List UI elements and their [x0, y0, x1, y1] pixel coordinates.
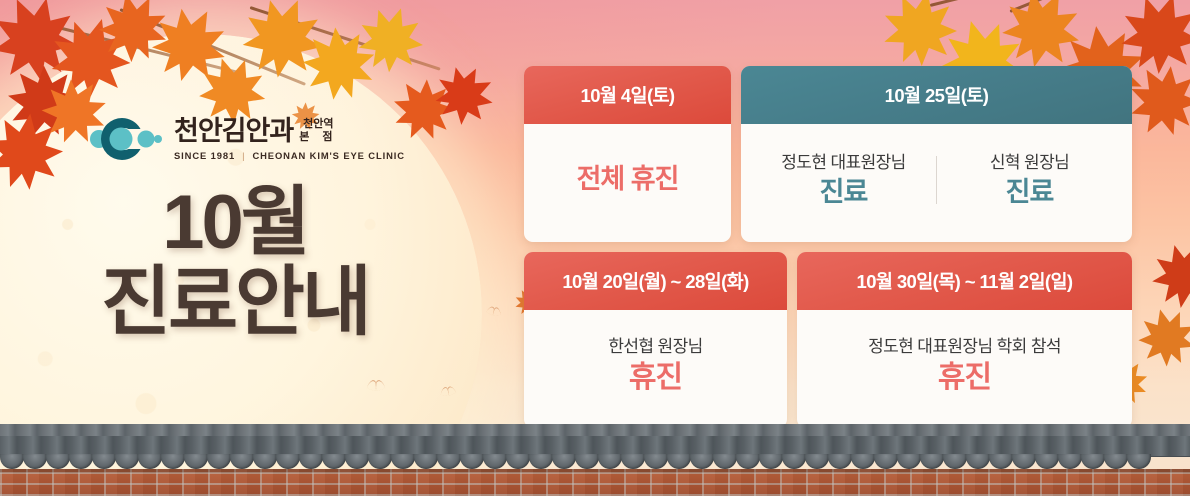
schedule-card-grid: 10월 4일(토) 전체 휴진 10월 25일(토) 정도현 대표원장님 진료 [524, 66, 1132, 428]
doctor-name: 정도현 대표원장님 [781, 152, 905, 174]
maple-branch [1009, 0, 1177, 13]
schedule-card-oct-30-nov-2: 10월 30일(목) ~ 11월 2일(일) 정도현 대표원장님 학회 참석 휴… [797, 252, 1132, 428]
card-date-header: 10월 4일(토) [524, 66, 731, 124]
card-body: 정도현 대표원장님 진료 신혁 원장님 진료 [741, 124, 1132, 242]
roof-tile-ends [0, 454, 1190, 469]
logo-branch-line1: 천안역 [303, 118, 333, 130]
card-date-header: 10월 25일(토) [741, 66, 1132, 124]
maple-leaf-icon [1139, 229, 1190, 320]
hanok-wall [0, 424, 1190, 496]
schedule-card-oct-20-28: 10월 20일(월) ~ 28일(화) 한선협 원장님 휴진 [524, 252, 787, 428]
doctor-name: 신혁 원장님 [990, 152, 1069, 174]
card-date-header: 10월 20일(월) ~ 28일(화) [524, 252, 787, 310]
clinic-logo: 천안김안과 천안역 본 점 SINCE 1981 | CHEONAN KIM'S… [88, 116, 405, 162]
maple-leaf-icon [347, 0, 435, 83]
maple-leaf-icon [423, 53, 507, 137]
logo-clinic-name-en: CHEONAN KIM'S EYE CLINIC [252, 150, 404, 161]
page-title: 10월 진료안내 [50, 186, 420, 341]
logo-text-block: 천안김안과 천안역 본 점 SINCE 1981 | CHEONAN KIM'S… [174, 118, 405, 161]
card-status: 전체 휴진 [577, 164, 679, 195]
card-status: 휴진 [608, 361, 702, 396]
card-status: 진료 [820, 177, 868, 208]
headline-line-2: 진료안내 [50, 266, 420, 340]
maple-leaf-icon [873, 0, 968, 75]
card-body: 전체 휴진 [524, 124, 731, 242]
eye-clinic-c-mark-icon [88, 116, 162, 162]
logo-clinic-name-ko: 천안김안과 [174, 118, 293, 145]
card-body: 한선협 원장님 휴진 [524, 310, 787, 428]
logo-since: SINCE 1981 [174, 150, 235, 161]
headline-line-1: 10월 [50, 186, 420, 260]
schedule-card-oct-25: 10월 25일(토) 정도현 대표원장님 진료 신혁 원장님 진료 [741, 66, 1132, 242]
doctor-column: 신혁 원장님 진료 [937, 150, 1122, 209]
logo-branch-line2: 본 점 [299, 131, 337, 143]
schedule-card-oct-4: 10월 4일(토) 전체 휴진 [524, 66, 731, 242]
october-schedule-banner: 천안김안과 천안역 본 점 SINCE 1981 | CHEONAN KIM'S… [0, 0, 1190, 496]
logo-branch: 천안역 본 점 [299, 118, 337, 144]
card-date-header: 10월 30일(목) ~ 11월 2일(일) [797, 252, 1132, 310]
card-status: 휴진 [868, 361, 1061, 396]
card-status: 진료 [1006, 177, 1054, 208]
card-body: 정도현 대표원장님 학회 참석 휴진 [797, 310, 1132, 428]
logo-separator: | [242, 150, 245, 161]
maple-branch [930, 0, 1125, 7]
bird-icon [487, 306, 501, 315]
doctor-name: 정도현 대표원장님 학회 참석 [868, 336, 1061, 358]
doctor-name: 한선협 원장님 [608, 336, 702, 358]
brick-wall [0, 469, 1190, 496]
doctor-column: 정도현 대표원장님 진료 [751, 150, 936, 209]
maple-leaf-icon [1129, 299, 1190, 374]
